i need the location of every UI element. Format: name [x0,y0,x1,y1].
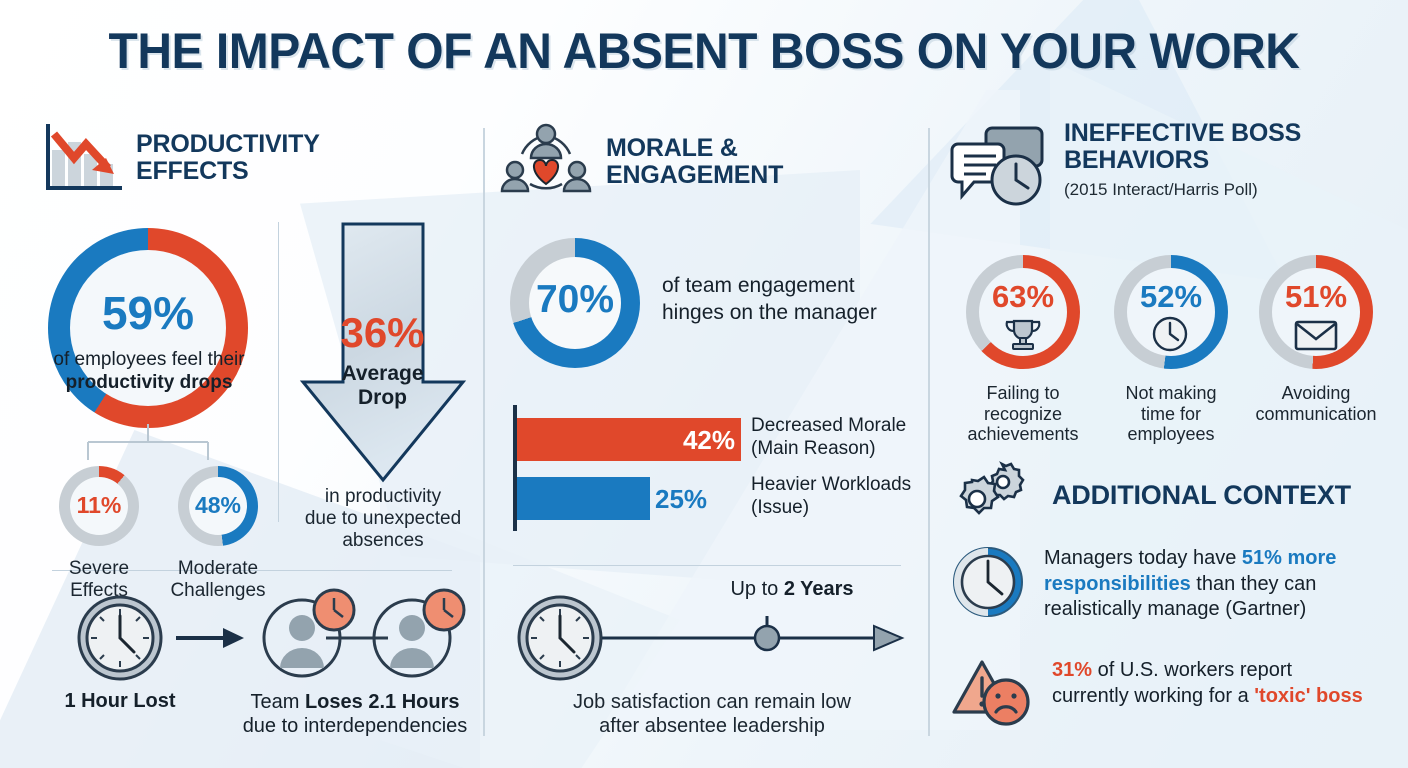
add1-part1: of U.S. workers report [1092,659,1292,681]
infographic-canvas: THE IMPACT OF AN ABSENT BOSS ON YOUR WOR… [0,0,1408,768]
additional-item-1-text: 31% of U.S. workers report currently wor… [1052,654,1363,709]
morale-heading: MORALE & ENGAGEMENT [606,135,783,189]
section-ineffective-boss: INEFFECTIVE BOSS BEHAVIORS (2015 Interac… [950,120,1390,208]
ineffective-0-line1: Failing to [986,383,1059,403]
ineffective-0-value: 63% [950,281,1096,312]
morale-heading-line1: MORALE & [606,134,738,162]
one-hour-lost-label: 1 Hour Lost [40,690,200,713]
two-people-with-clocks-icon [264,590,464,676]
additional-header: ADDITIONAL CONTEXT [950,460,1390,532]
ineffective-2-line1: Avoiding [1282,383,1351,403]
clock-icon [1151,315,1191,355]
right-arrow-icon [176,628,244,648]
additional-item-0: Managers today have 51% more responsibil… [950,544,1390,623]
ineffective-heading: INEFFECTIVE BOSS BEHAVIORS (2015 Interac… [1064,120,1301,201]
section-productivity: PRODUCTIVITY EFFECTS 59% of employees fe… [30,120,470,196]
average-drop-line2: Drop [358,386,407,409]
ineffective-header: INEFFECTIVE BOSS BEHAVIORS (2015 Interac… [950,120,1390,208]
clock-icon [950,544,1026,620]
productivity-stat-line1: of employees feel their [53,349,244,370]
speech-bubbles-clock-icon [950,122,1050,208]
additional-item-0-text: Managers today have 51% more responsibil… [1044,544,1336,623]
ineffective-0-label: Failing to recognize achievements [950,383,1096,445]
timeline-caption: Job satisfaction can remain low after ab… [512,690,912,739]
substat-0-value: 11% [54,494,144,517]
envelope-icon [1294,319,1338,351]
ineffective-2-line2: communication [1255,404,1376,424]
add1-hl2: 'toxic' boss [1254,685,1362,707]
donut-engagement-value: 70% [510,280,640,319]
ineffective-heading-line2: BEHAVIORS [1064,146,1209,174]
timeline-caption-line1: Job satisfaction can remain low [573,691,851,713]
timeline-caption-line2: after absentee leadership [599,715,825,737]
ineffective-donut-1: 52% Not making time for employees [1098,255,1244,445]
timeline-marker-label: Up to 2 Years [692,578,892,601]
bar-0-label-line1: Decreased Morale [751,415,906,436]
average-drop-caption: in productivity due to unexpected absenc… [283,486,483,552]
ineffective-1-line1: Not making [1125,383,1216,403]
morale-header: MORALE & ENGAGEMENT [500,120,900,204]
column-divider [483,128,485,736]
productivity-stat-line2: productivity drops [66,372,233,393]
average-drop-line1: Average [341,362,423,385]
bar-1-label-line2: (Issue) [751,497,809,518]
substat-0-label-line1: Severe [69,558,129,579]
add0-hl1: 51% more [1242,547,1337,569]
caption-line1: in productivity [325,486,441,507]
section-morale: MORALE & ENGAGEMENT 70% of team engageme… [500,120,900,204]
bar-0-value: 42% [663,425,735,456]
caption-line2: due to unexpected [305,508,461,529]
morale-heading-line2: ENGAGEMENT [606,161,783,189]
timeline-axis [602,616,902,650]
page-title: THE IMPACT OF AN ABSENT BOSS ON YOUR WOR… [28,22,1380,80]
productivity-substat-1: 48% Moderate Challenges [168,466,268,602]
add1-part2: currently working for a [1052,685,1254,707]
productivity-header: PRODUCTIVITY EFFECTS [30,120,470,196]
bar-1-label-line1: Heavier Workloads [751,474,911,495]
add0-part3: than they can [1191,573,1317,595]
bar-1-value: 25% [655,484,733,515]
ineffective-donut-0: 63% Failing to recognize achievements [950,255,1096,445]
declining-bar-chart-icon [30,120,122,196]
substat-1-value: 48% [168,494,268,517]
caption-line3: absences [342,530,423,551]
warning-sad-face-icon [950,654,1034,728]
heading-line-1: PRODUCTIVITY [136,130,320,158]
section-additional-context: ADDITIONAL CONTEXT Managers today have 5… [950,460,1390,532]
ineffective-0-line3: achievements [967,424,1078,444]
additional-item-1: 31% of U.S. workers report currently wor… [950,654,1390,728]
ineffective-donut-2: 51% Avoiding communication [1242,255,1390,424]
ineffective-1-label: Not making time for employees [1098,383,1244,445]
bar-0-label: Decreased Morale (Main Reason) [751,415,931,461]
add1-hl1: 31% [1052,659,1092,681]
ineffective-2-label: Avoiding communication [1242,383,1390,424]
engagement-stat-text: of team engagement hinges on the manager [662,272,912,327]
section-divider [513,565,901,566]
ineffective-1-line2: time for [1141,404,1201,424]
ineffective-2-value: 51% [1242,281,1390,312]
bar-1-label: Heavier Workloads (Issue) [751,474,941,520]
clock-icon [79,597,161,679]
people-with-heart-icon [500,120,592,204]
heading-line-2: EFFECTS [136,157,249,185]
average-drop-value: 36% [295,312,470,354]
bar-0-label-line2: (Main Reason) [751,438,876,459]
bar-heavier-workloads [517,477,650,520]
team-loses-line2: due to interdependencies [243,715,468,737]
timeline-bold: 2 Years [784,578,854,600]
team-loses-label: Team Loses 2.1 Hours due to interdepende… [230,690,480,738]
morale-bar-chart: 42% Decreased Morale (Main Reason) 25% H… [513,405,913,535]
average-drop-label: Average Drop [295,362,470,409]
engagement-line2: hinges on the manager [662,301,877,324]
add0-part4: realistically manage (Gartner) [1044,598,1306,620]
additional-heading: ADDITIONAL CONTEXT [1052,481,1351,510]
engagement-line1: of team engagement [662,274,855,297]
donut-productivity-value: 59% [48,290,248,336]
timeline-prefix: Up to [730,578,783,600]
add0-part1: Managers today have [1044,547,1242,569]
gears-icon [950,460,1038,532]
team-loses-prefix: Team [251,691,305,713]
ineffective-heading-line1: INEFFECTIVE BOSS [1064,119,1301,147]
add0-hl2: responsibilities [1044,573,1191,595]
ineffective-0-line2: recognize [984,404,1062,424]
productivity-heading: PRODUCTIVITY EFFECTS [136,131,320,185]
productivity-substat-0: 11% Severe Effects [54,466,144,602]
clock-icon [519,597,601,679]
ineffective-1-value: 52% [1098,281,1244,312]
ineffective-source: (2015 Interact/Harris Poll) [1064,180,1258,199]
substat-1-label-line1: Moderate [178,558,258,579]
team-loses-bold: Loses 2.1 Hours [305,691,460,713]
ineffective-1-line3: employees [1127,424,1214,444]
trophy-icon [1003,317,1043,353]
